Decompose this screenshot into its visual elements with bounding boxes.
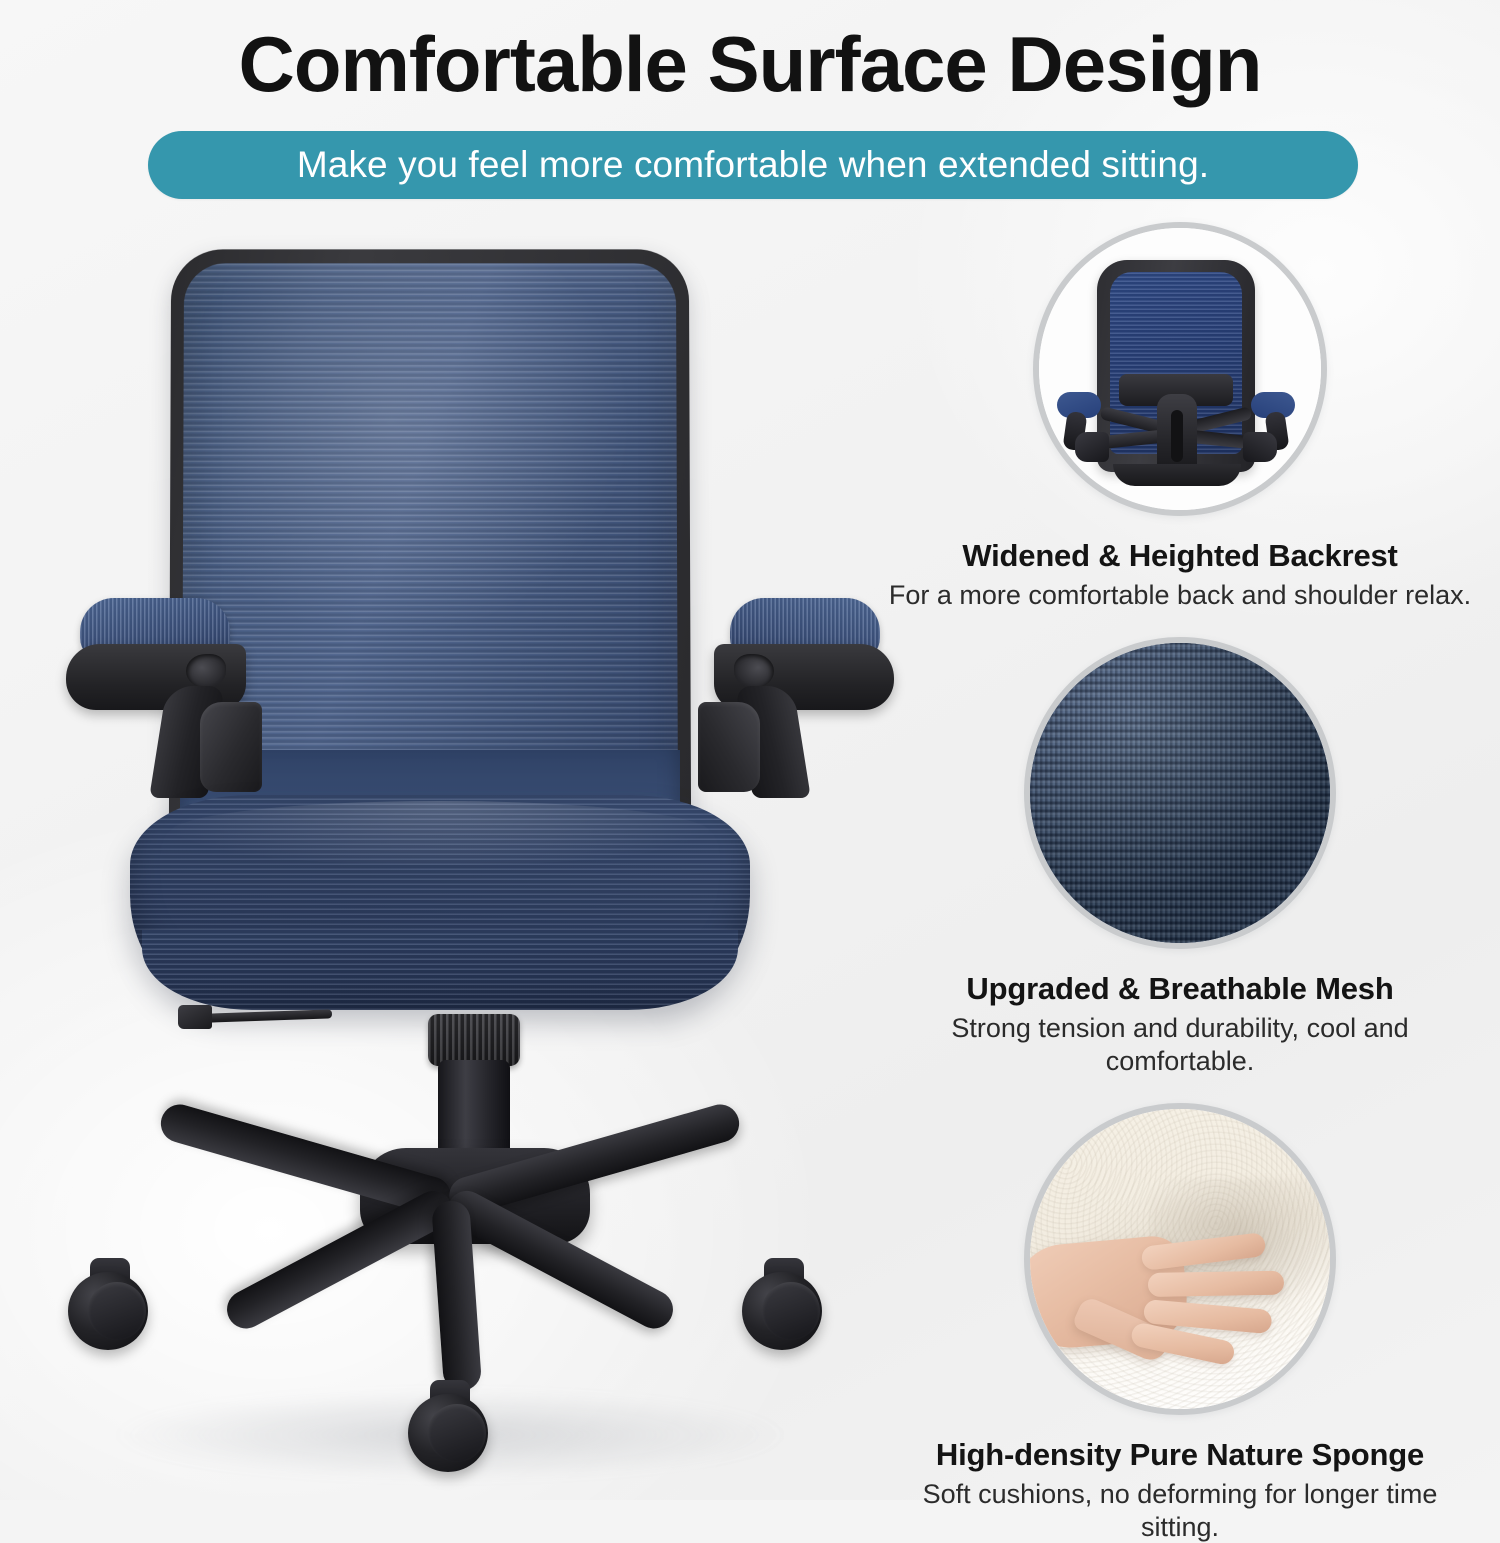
caster-rim (88, 1282, 146, 1340)
gas-cylinder-collar (428, 1014, 520, 1066)
feature-item-mesh: Upgraded & Breathable Mesh Strong tensio… (880, 637, 1480, 1077)
feature-item-sponge: High-density Pure Nature Sponge Soft cus… (880, 1103, 1480, 1543)
armrest-hinge (698, 702, 760, 792)
chair-armrest-left (52, 598, 282, 798)
height-adjust-lever-handle (178, 1005, 212, 1029)
main-product-image (30, 230, 870, 1490)
rear-seat-edge (1113, 464, 1241, 486)
page-title: Comfortable Surface Design (0, 22, 1500, 106)
feature-item-backrest: Widened & Heighted Backrest For a more c… (880, 222, 1480, 611)
chair-armrest-right (678, 598, 908, 798)
subtitle-text: Make you feel more comfortable when exte… (297, 144, 1209, 186)
product-infographic-page: Comfortable Surface Design Make you feel… (0, 0, 1500, 1500)
feature-description: Strong tension and durability, cool and … (880, 1012, 1480, 1077)
armrest-hinge (200, 702, 262, 792)
armrest-hub (1075, 432, 1109, 462)
hand-finger (1148, 1271, 1284, 1297)
chair-caster (742, 1258, 826, 1350)
feature-title: Widened & Heighted Backrest (880, 538, 1480, 574)
mesh-closeup-inset (1024, 637, 1336, 949)
sponge-closeup-inset (1024, 1103, 1336, 1415)
rear-armrest-right (1241, 392, 1307, 464)
chair-seat-front-edge (142, 930, 738, 1010)
feature-title: Upgraded & Breathable Mesh (880, 971, 1480, 1007)
caster-rim (428, 1404, 486, 1462)
chair-caster (68, 1258, 152, 1350)
backrest-rear-view-inset (1033, 222, 1327, 516)
rear-chair-illustration (1039, 228, 1321, 510)
chair-caster (408, 1380, 492, 1472)
caster-rim (762, 1282, 820, 1340)
feature-title: High-density Pure Nature Sponge (880, 1437, 1480, 1473)
hand-illustration (1024, 1221, 1286, 1351)
feature-list: Widened & Heighted Backrest For a more c… (880, 222, 1480, 1543)
mesh-fabric-texture (1030, 643, 1330, 943)
subtitle-banner: Make you feel more comfortable when exte… (148, 131, 1358, 199)
armrest-hub (1243, 432, 1277, 462)
rear-armrest-left (1045, 392, 1111, 464)
foam-surface (1030, 1109, 1330, 1409)
feature-description: For a more comfortable back and shoulder… (880, 579, 1480, 611)
feature-description: Soft cushions, no deforming for longer t… (880, 1478, 1480, 1543)
base-spoke (220, 1184, 459, 1335)
